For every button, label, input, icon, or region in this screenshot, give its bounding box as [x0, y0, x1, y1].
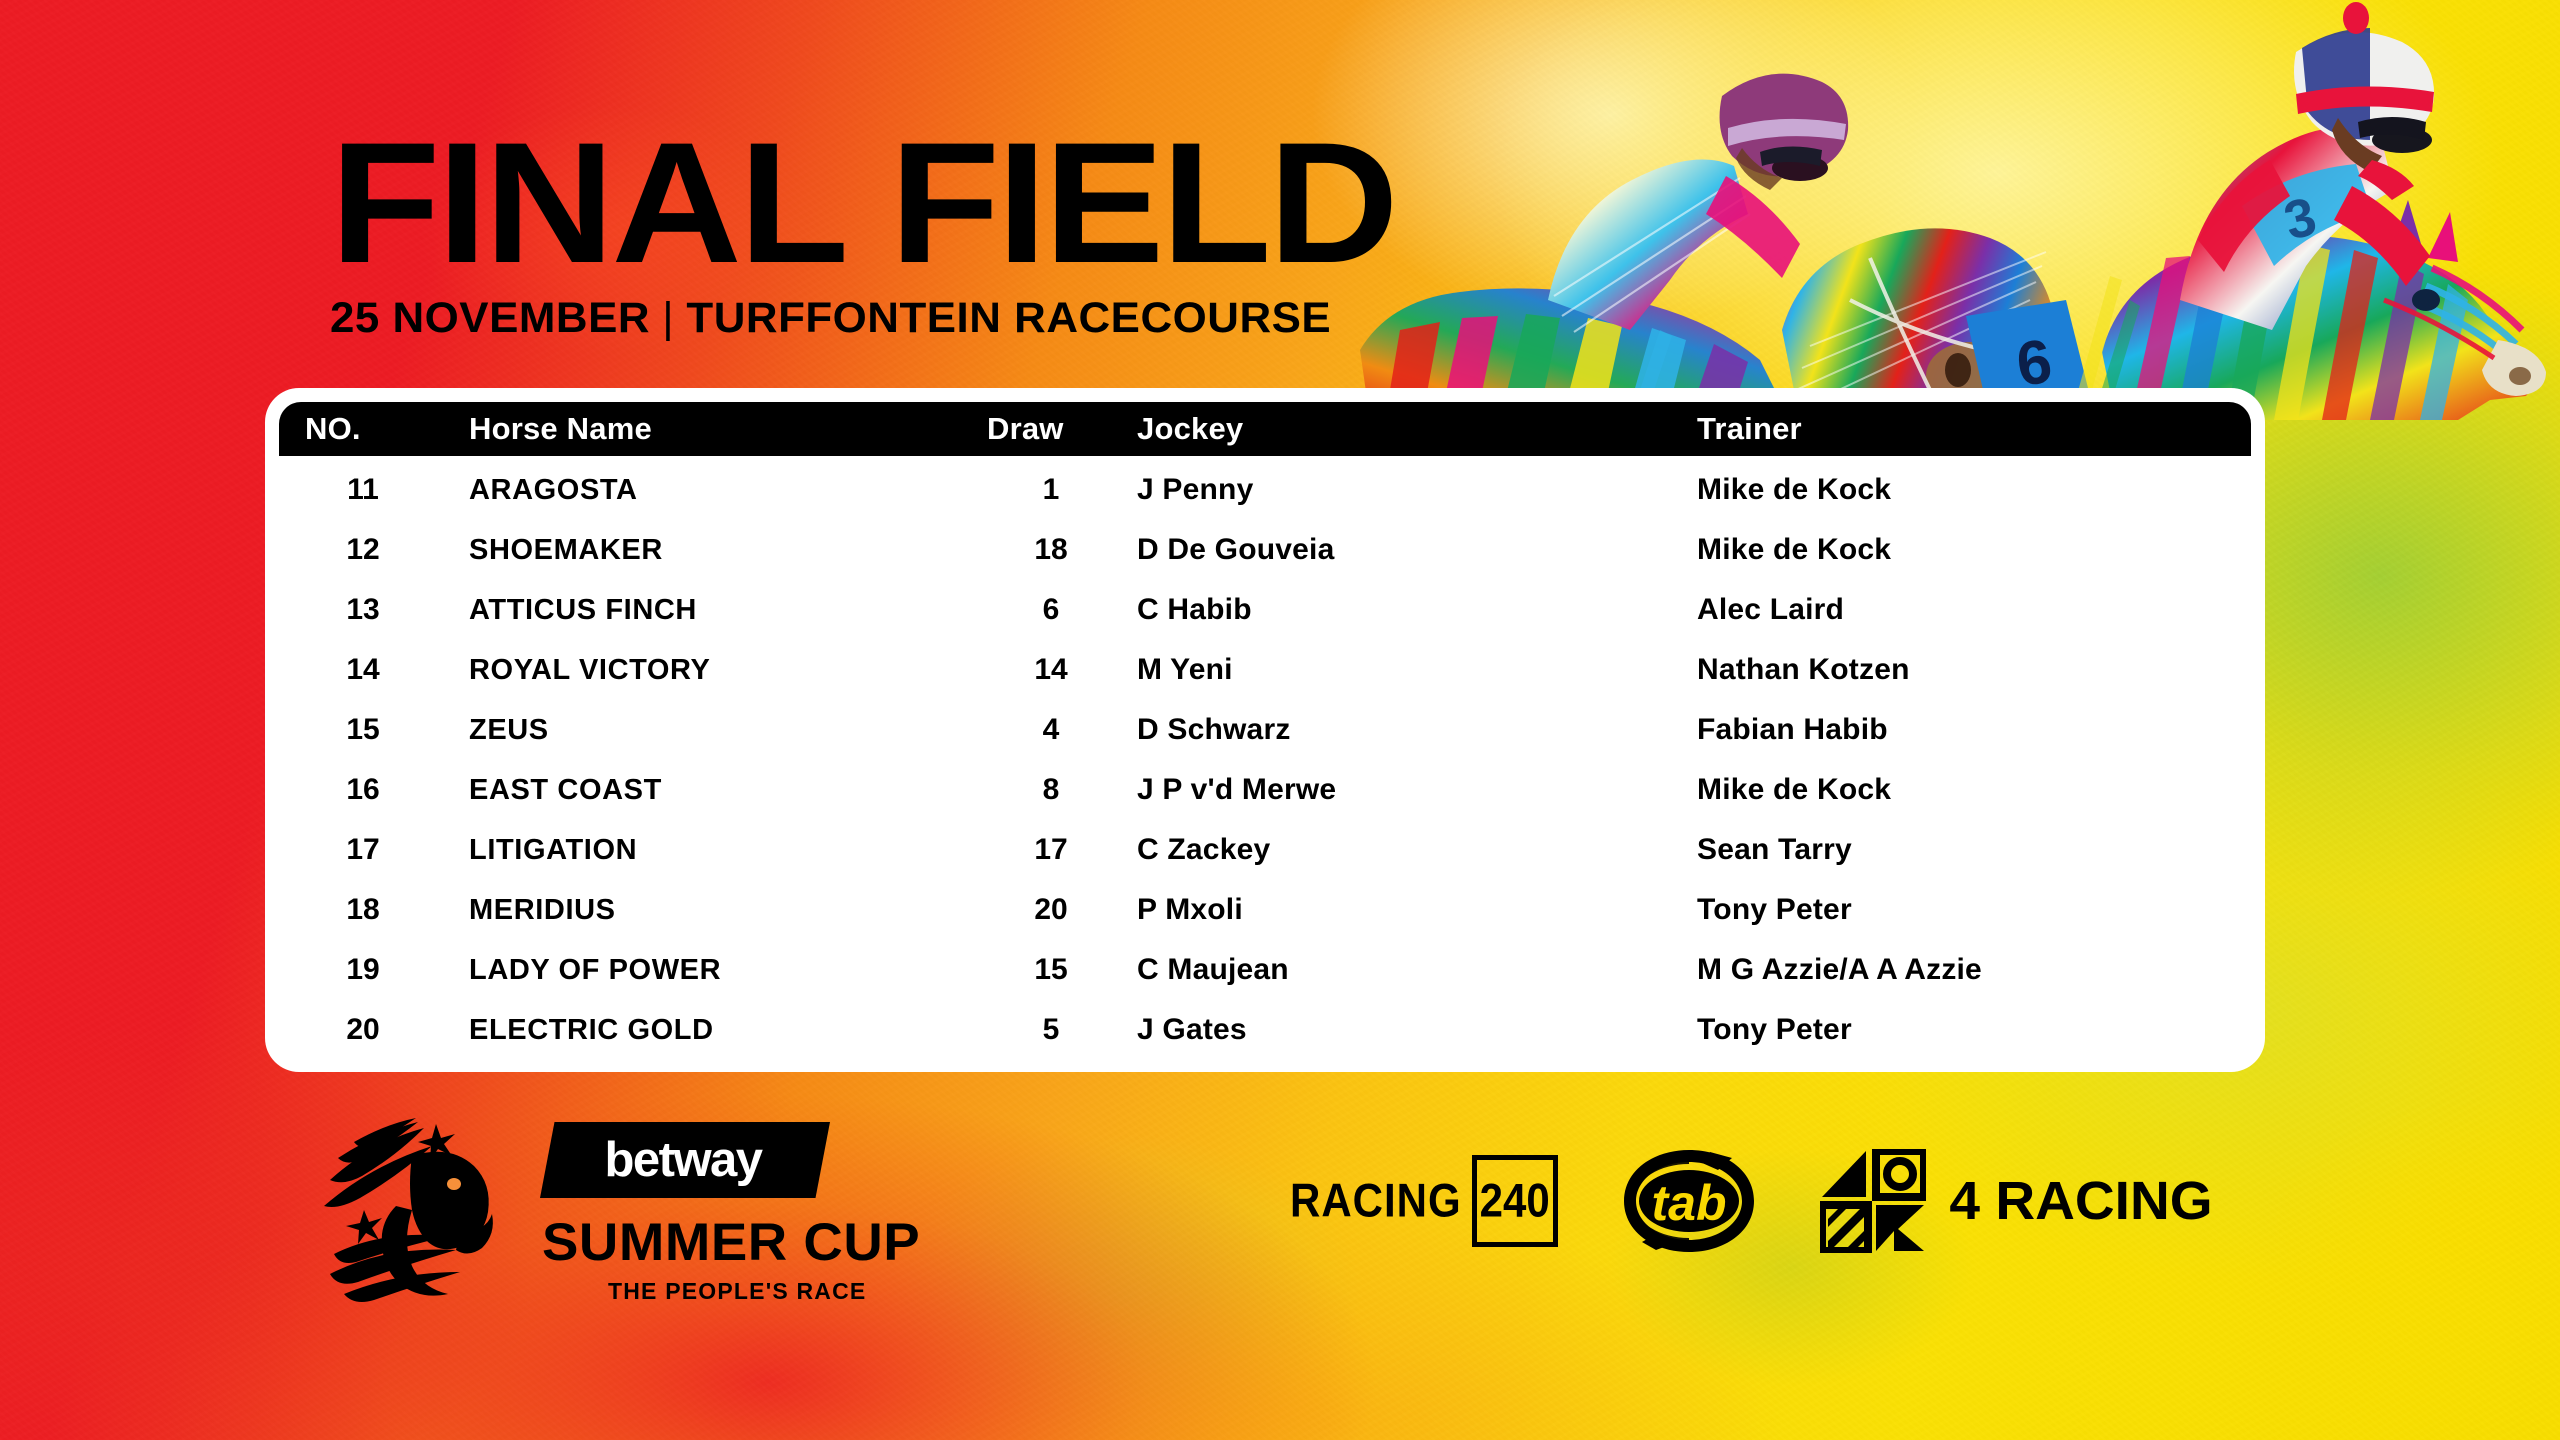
racing240-wordmark: RACING — [1290, 1174, 1462, 1228]
racing240-number: 240 — [1480, 1174, 1550, 1228]
cell-no: 17 — [279, 833, 447, 867]
cell-draw: 8 — [987, 773, 1115, 807]
cell-jockey: D Schwarz — [1115, 713, 1445, 747]
cell-trainer: Sean Tarry — [1675, 833, 2251, 867]
table-row: 13ATTICUS FINCH6C HabibAlec Laird — [279, 580, 2251, 640]
final-field-table-card: NO. Horse Name Draw Jockey Trainer 11ARA… — [265, 388, 2265, 1072]
cell-no: 15 — [279, 713, 447, 747]
cell-horse: EAST COAST — [447, 774, 757, 807]
cell-trainer: M G Azzie/A A Azzie — [1675, 953, 2251, 987]
tab-logo: tab — [1614, 1148, 1764, 1254]
column-header-horse: Horse Name — [447, 411, 757, 447]
cell-no: 11 — [279, 473, 447, 507]
cell-horse: ATTICUS FINCH — [447, 594, 757, 627]
event-date: 25 NOVEMBER — [330, 294, 650, 342]
cell-horse: LADY OF POWER — [447, 954, 757, 987]
cell-jockey: D De Gouveia — [1115, 533, 1445, 567]
event-subtitle: 25 NOVEMBER|TURFFONTEIN RACECOURSE — [330, 294, 1365, 343]
cell-draw: 6 — [987, 593, 1115, 627]
cell-draw: 17 — [987, 833, 1115, 867]
cell-jockey: C Maujean — [1115, 953, 1445, 987]
table-row: 17LITIGATION17C ZackeySean Tarry — [279, 820, 2251, 880]
column-header-no: NO. — [279, 411, 447, 447]
cell-trainer: Mike de Kock — [1675, 473, 2251, 507]
fourracing-mark-icon — [1820, 1149, 1926, 1253]
table-body: 11ARAGOSTA1J PennyMike de Kock12SHOEMAKE… — [279, 456, 2251, 1060]
event-venue: TURFFONTEIN RACECOURSE — [686, 294, 1331, 342]
cell-jockey: C Habib — [1115, 593, 1445, 627]
cell-draw: 5 — [987, 1013, 1115, 1047]
cell-draw: 14 — [987, 653, 1115, 687]
table-row: 18MERIDIUS20P MxoliTony Peter — [279, 880, 2251, 940]
cell-jockey: P Mxoli — [1115, 893, 1445, 927]
cell-horse: ZEUS — [447, 714, 757, 747]
cell-draw: 15 — [987, 953, 1115, 987]
cell-draw: 18 — [987, 533, 1115, 567]
cell-jockey: C Zackey — [1115, 833, 1445, 867]
cell-trainer: Tony Peter — [1675, 893, 2251, 927]
cell-horse: SHOEMAKER — [447, 534, 757, 567]
cell-trainer: Alec Laird — [1675, 593, 2251, 627]
cell-horse: ARAGOSTA — [447, 474, 757, 507]
cell-horse: MERIDIUS — [447, 894, 757, 927]
column-header-trainer: Trainer — [1675, 411, 2251, 447]
table-row: 16EAST COAST8J P v'd MerweMike de Kock — [279, 760, 2251, 820]
fourracing-logo: 4 RACING — [1820, 1149, 2210, 1253]
cell-no: 18 — [279, 893, 447, 927]
headline-block: FINAL FIELD 25 NOVEMBER|TURFFONTEIN RACE… — [330, 130, 1345, 343]
cell-trainer: Mike de Kock — [1675, 773, 2251, 807]
subtitle-separator: | — [650, 294, 686, 342]
cell-draw: 20 — [987, 893, 1115, 927]
cell-no: 14 — [279, 653, 447, 687]
cell-trainer: Mike de Kock — [1675, 533, 2251, 567]
summer-cup-title: SUMMER CUP — [542, 1212, 920, 1273]
cell-horse: LITIGATION — [447, 834, 757, 867]
table-row: 15ZEUS4D SchwarzFabian Habib — [279, 700, 2251, 760]
cell-jockey: M Yeni — [1115, 653, 1445, 687]
cell-jockey: J Gates — [1115, 1013, 1445, 1047]
table-row: 12SHOEMAKER18D De GouveiaMike de Kock — [279, 520, 2251, 580]
summer-cup-tagline: THE PEOPLE'S RACE — [608, 1278, 866, 1305]
table-header-row: NO. Horse Name Draw Jockey Trainer — [279, 402, 2251, 456]
betway-wordmark: betway — [604, 1136, 761, 1185]
summer-cup-logo: betway SUMMER CUP THE PEOPLE'S RACE — [320, 1100, 980, 1330]
cell-trainer: Fabian Habib — [1675, 713, 2251, 747]
betway-logo: betway — [540, 1122, 830, 1198]
table-row: 20ELECTRIC GOLD5J GatesTony Peter — [279, 1000, 2251, 1060]
cell-trainer: Nathan Kotzen — [1675, 653, 2251, 687]
cell-draw: 1 — [987, 473, 1115, 507]
column-header-draw: Draw — [987, 411, 1115, 447]
cell-draw: 4 — [987, 713, 1115, 747]
table-row: 11ARAGOSTA1J PennyMike de Kock — [279, 460, 2251, 520]
cell-no: 16 — [279, 773, 447, 807]
cell-no: 12 — [279, 533, 447, 567]
racing240-logo: RACING 240 — [1290, 1155, 1558, 1247]
cell-no: 20 — [279, 1013, 447, 1047]
final-field-poster: 6 — [0, 0, 2560, 1440]
fourracing-wordmark: 4 RACING — [1949, 1170, 2212, 1232]
svg-text:tab: tab — [1651, 1175, 1726, 1231]
cell-jockey: J P v'd Merwe — [1115, 773, 1445, 807]
racing240-box: 240 — [1472, 1155, 1558, 1247]
column-header-jockey: Jockey — [1115, 411, 1445, 447]
cell-no: 19 — [279, 953, 447, 987]
cell-horse: ELECTRIC GOLD — [447, 1014, 757, 1047]
sponsor-row: RACING 240 tab — [1290, 1148, 2210, 1254]
cell-horse: ROYAL VICTORY — [447, 654, 757, 687]
cell-trainer: Tony Peter — [1675, 1013, 2251, 1047]
table-row: 14ROYAL VICTORY14M YeniNathan Kotzen — [279, 640, 2251, 700]
horse-head-icon — [320, 1114, 530, 1304]
cell-jockey: J Penny — [1115, 473, 1445, 507]
cell-no: 13 — [279, 593, 447, 627]
page-title: FINAL FIELD — [330, 130, 1396, 278]
footer-logos: betway SUMMER CUP THE PEOPLE'S RACE RACI… — [0, 1090, 2560, 1370]
table-row: 19LADY OF POWER15C MaujeanM G Azzie/A A … — [279, 940, 2251, 1000]
